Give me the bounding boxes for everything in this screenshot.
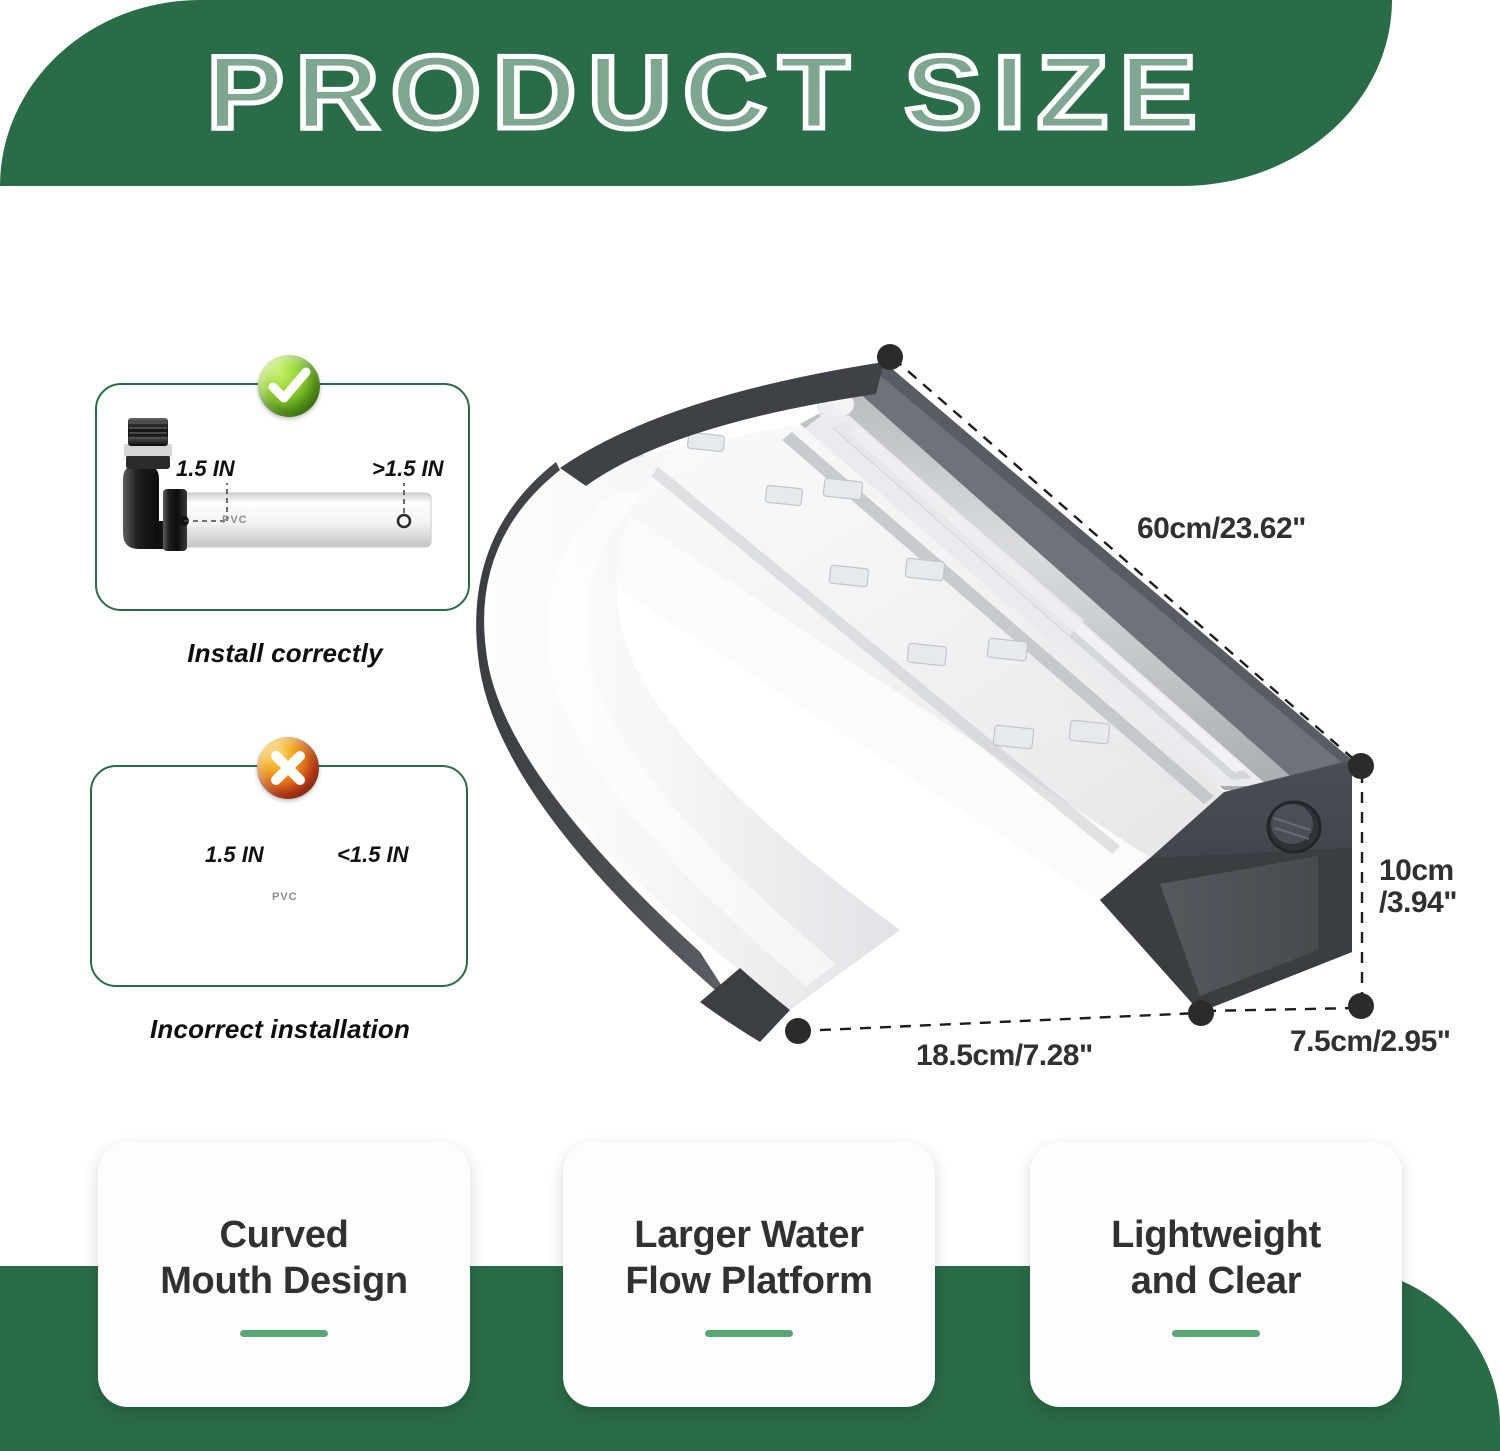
correct-near-dim-label: 1.5 IN bbox=[176, 456, 235, 482]
incorrect-pvc-label: PVC bbox=[272, 891, 298, 903]
dimension-label-length: 60cm/23.62" bbox=[1137, 513, 1306, 545]
feature-card-curved-mouth-design: Curved Mouth Design bbox=[98, 1142, 470, 1407]
feature-underline-rule bbox=[240, 1330, 328, 1337]
dimension-label-width: 7.5cm/2.95" bbox=[1290, 1026, 1451, 1058]
dimension-label-height: 10cm /3.94" bbox=[1379, 855, 1457, 920]
feature-title-line2: and Clear bbox=[1131, 1260, 1301, 1302]
feature-title-line1: Larger Water bbox=[634, 1214, 863, 1256]
product-illustration bbox=[476, 344, 1374, 1044]
install-correct-caption: Install correctly bbox=[75, 638, 495, 669]
feature-underline-rule bbox=[705, 1330, 793, 1337]
feature-card-title: Lightweight and Clear bbox=[1111, 1212, 1321, 1305]
correct-pvc-label: PVC bbox=[222, 514, 248, 526]
dim-endpoint-dot bbox=[1188, 1000, 1214, 1026]
feature-card-lightweight-and-clear: Lightweight and Clear bbox=[1030, 1142, 1402, 1407]
dim-endpoint-dot bbox=[785, 1018, 811, 1044]
page-title: PRODUCT SIZE bbox=[0, 0, 1476, 186]
feature-title-line2: Flow Platform bbox=[625, 1260, 872, 1302]
feature-card-larger-water-flow-platform: Larger Water Flow Platform bbox=[563, 1142, 935, 1407]
dimension-label-height-line2: /3.94" bbox=[1379, 887, 1457, 919]
install-correct-panel bbox=[95, 383, 470, 611]
dim-endpoint-dot bbox=[1348, 753, 1374, 779]
feature-title-line1: Curved bbox=[219, 1214, 348, 1256]
incorrect-far-dim-label: <1.5 IN bbox=[337, 842, 409, 868]
feature-card-title: Curved Mouth Design bbox=[160, 1212, 408, 1305]
green-check-badge bbox=[258, 355, 320, 417]
feature-title-line1: Lightweight bbox=[1111, 1214, 1321, 1256]
incorrect-near-dim-label: 1.5 IN bbox=[205, 842, 264, 868]
feature-card-title: Larger Water Flow Platform bbox=[625, 1212, 872, 1305]
dimension-label-depth: 18.5cm/7.28" bbox=[916, 1040, 1093, 1072]
feature-title-line2: Mouth Design bbox=[160, 1260, 408, 1302]
orange-cross-badge bbox=[257, 737, 319, 799]
install-incorrect-caption: Incorrect installation bbox=[70, 1014, 490, 1045]
correct-far-dim-label: >1.5 IN bbox=[372, 456, 444, 482]
dim-endpoint-dot bbox=[877, 344, 903, 370]
dimension-label-height-line1: 10cm bbox=[1379, 855, 1457, 887]
dim-endpoint-dot bbox=[1348, 993, 1374, 1019]
feature-underline-rule bbox=[1172, 1330, 1260, 1337]
